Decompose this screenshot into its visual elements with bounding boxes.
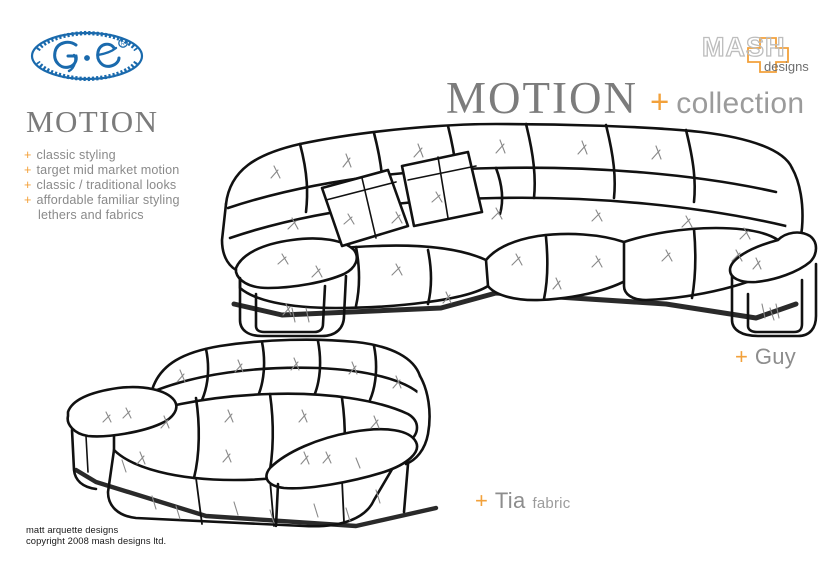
product-label-tia: +Tiafabric <box>475 488 570 514</box>
bullet-plus-icon: + <box>24 178 32 192</box>
bullet-plus-icon: + <box>24 148 32 162</box>
feature-label: affordable familiar styling <box>37 193 180 207</box>
product-name: Guy <box>755 344 796 369</box>
feature-label: classic styling <box>37 148 116 162</box>
label-plus-icon: + <box>475 488 488 513</box>
feature-label: classic / traditional looks <box>37 178 177 192</box>
bullet-plus-icon: + <box>24 193 32 207</box>
tia-sofa-illustration <box>56 330 506 535</box>
label-plus-icon: + <box>735 344 748 369</box>
presentation-slide: R MASH designs MOTION +classic styling +… <box>0 0 840 574</box>
sectional-sofa-illustration <box>196 108 820 343</box>
product-label-guy: +Guy <box>735 344 796 370</box>
mash-wordmark-text: MASH <box>702 32 786 62</box>
footer-line-2: copyright 2008 mash designs ltd. <box>26 535 166 546</box>
ge-brand-logo: R <box>28 28 146 84</box>
svg-text:R: R <box>121 42 125 48</box>
feature-label: target mid market motion <box>37 163 180 177</box>
footer-line-1: matt arquette designs <box>26 524 166 535</box>
mash-designs-logo: MASH designs <box>700 26 826 78</box>
product-name: Tia <box>495 488 526 513</box>
product-material: fabric <box>533 495 571 512</box>
copyright-footer: matt arquette designs copyright 2008 mas… <box>26 524 166 547</box>
bullet-plus-icon: + <box>24 163 32 177</box>
